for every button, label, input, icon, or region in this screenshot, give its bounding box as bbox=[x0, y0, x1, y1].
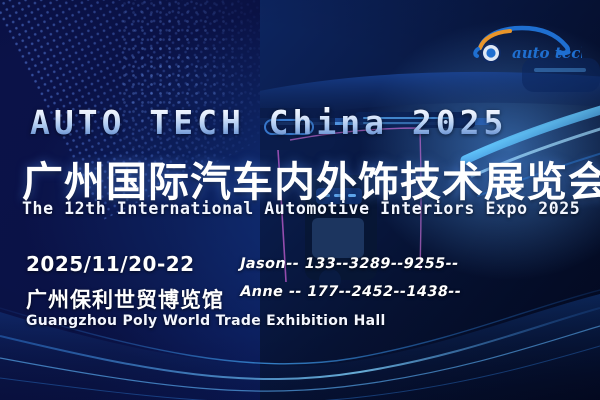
venue-cn: 广州保利世贸博览馆 bbox=[26, 284, 224, 314]
banner-content: AUTO TECH China 2025 广州国际汽车内外饰技术展览会 The … bbox=[0, 0, 600, 400]
subtitle-en: The 12th International Automotive Interi… bbox=[22, 199, 580, 218]
venue-en: Guangzhou Poly World Trade Exhibition Ha… bbox=[26, 313, 386, 329]
event-banner: auto tech AUTO TECH China 2025 广州国际汽车内外饰… bbox=[0, 0, 600, 400]
contact-anne: Anne -- 177--2452--1438-- bbox=[238, 284, 462, 300]
contact-jason: Jason-- 133--3289--9255-- bbox=[238, 256, 459, 272]
event-date: 2025/11/20-22 bbox=[26, 252, 195, 276]
title-en: AUTO TECH China 2025 bbox=[30, 103, 507, 142]
